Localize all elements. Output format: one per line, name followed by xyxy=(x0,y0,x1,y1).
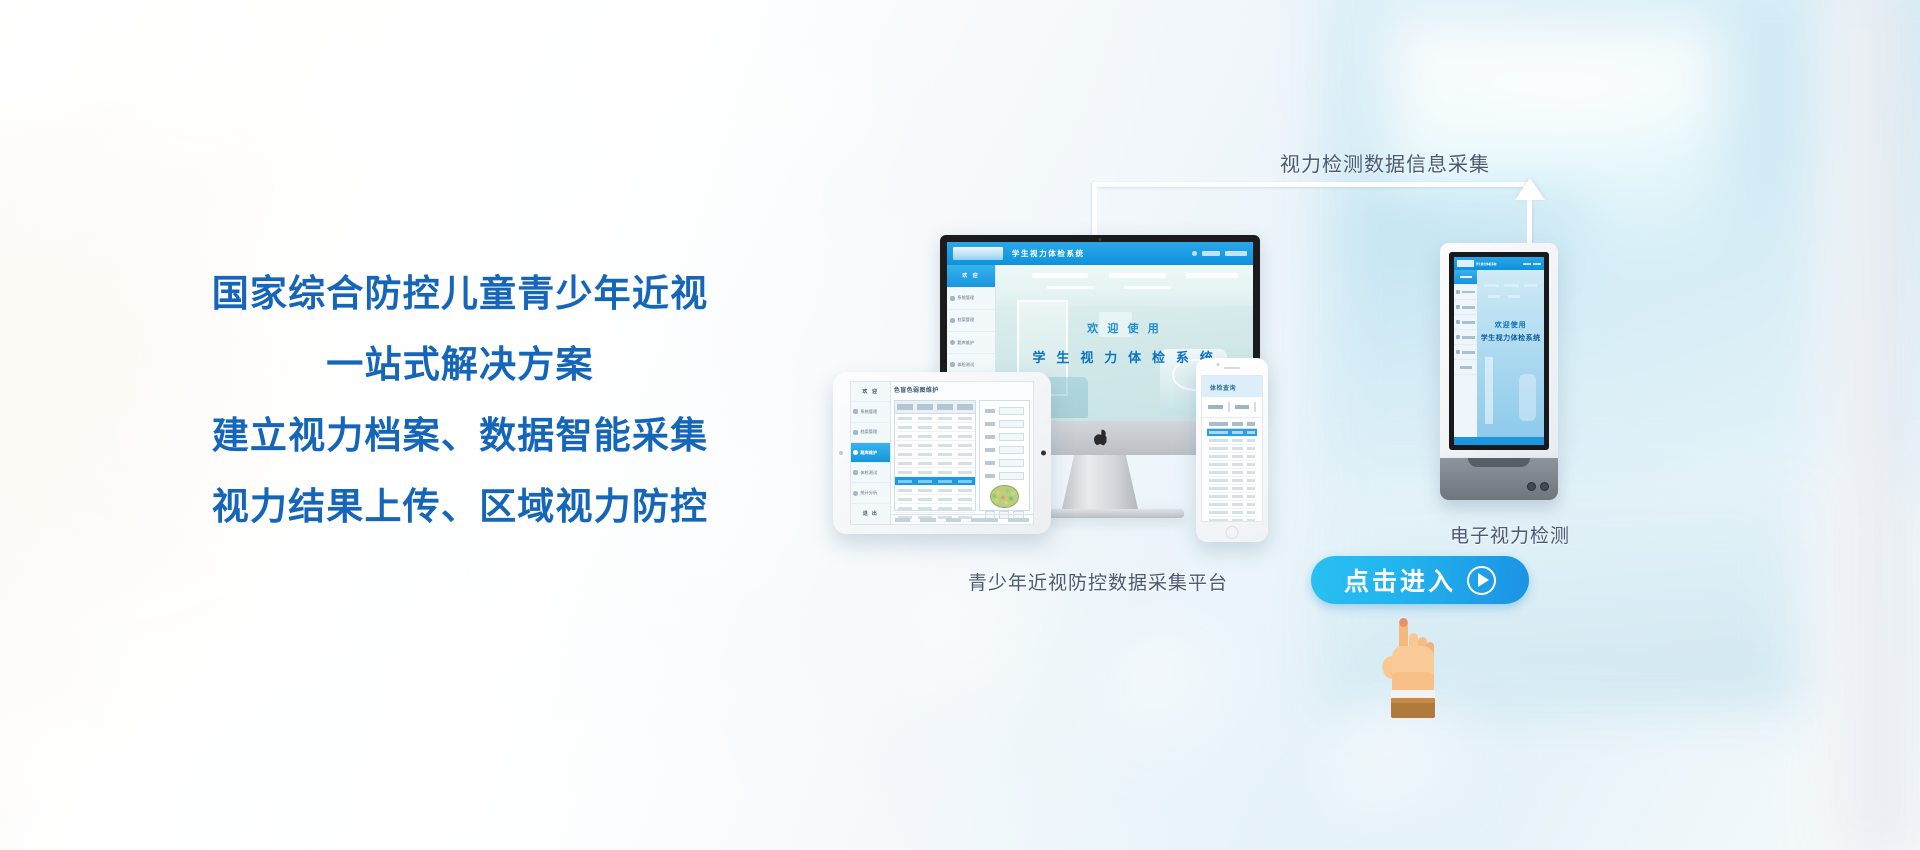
kiosk-bezel: 学生视力体检系统 xyxy=(1449,252,1549,450)
home-button[interactable] xyxy=(1226,526,1239,539)
table-row-selected[interactable] xyxy=(1207,429,1257,437)
table-row[interactable] xyxy=(1207,493,1257,501)
kiosk-app-title: 学生视力体检系统 xyxy=(1476,262,1497,266)
vision-screening-kiosk: 学生视力体检系统 xyxy=(1440,243,1558,500)
kiosk-app-footer xyxy=(1454,437,1544,445)
table-row[interactable] xyxy=(1207,501,1257,509)
field-input[interactable] xyxy=(999,407,1024,415)
table-row[interactable] xyxy=(1207,469,1257,477)
filter-select-class[interactable] xyxy=(1254,402,1256,412)
clinic-room-illustration xyxy=(1477,270,1544,437)
table-row[interactable] xyxy=(895,495,975,504)
table-row[interactable] xyxy=(895,432,975,441)
sidebar-item-statistics[interactable]: 统计分析 xyxy=(851,483,890,503)
toolbar-button[interactable] xyxy=(1008,518,1029,522)
filter-label-class xyxy=(1235,405,1250,409)
toolbar-button[interactable] xyxy=(895,518,910,522)
pointing-hand-icon xyxy=(1378,616,1440,721)
desktop-app-title: 学生视力体检系统 xyxy=(1012,248,1085,259)
sidebar-item-label: 体检测试 xyxy=(860,470,877,476)
kiosk-body: 学生视力体检系统 xyxy=(1440,243,1558,458)
kiosk-sensor-lenses xyxy=(1527,482,1549,491)
enter-button[interactable]: 点击进入 xyxy=(1311,556,1529,604)
eye-chart-icon xyxy=(1456,335,1460,339)
field-label xyxy=(985,435,995,439)
flow-label: 视力检测数据信息采集 xyxy=(1280,148,1490,177)
front-camera-icon xyxy=(1217,363,1220,366)
kiosk-main-area: 欢迎使用 学生视力体检系统 xyxy=(1477,270,1544,437)
headline-line-3: 建立视力档案、数据智能采集 xyxy=(150,400,770,471)
sidebar-item-label: 档案管理 xyxy=(860,429,877,435)
welcome-line-1: 欢 迎 使 用 xyxy=(1087,320,1162,336)
sidebar-item-label: 体检测试 xyxy=(957,362,974,368)
table-row[interactable] xyxy=(1207,509,1257,517)
table-row[interactable] xyxy=(895,414,975,423)
kiosk-welcome-panel: 欢迎使用 学生视力体检系统 xyxy=(1477,320,1544,343)
headline-block: 国家综合防控儿童青少年近视 一站式解决方案 建立视力档案、数据智能采集 视力结果… xyxy=(150,258,770,542)
sidebar-item-welcome[interactable]: 欢 迎 xyxy=(851,382,890,402)
color-plate-detail-panel[interactable] xyxy=(979,400,1031,511)
field-input[interactable] xyxy=(999,433,1024,441)
headline-line-2: 一站式解决方案 xyxy=(150,329,770,400)
table-row-selected[interactable] xyxy=(895,477,975,486)
folder-icon xyxy=(1456,305,1460,309)
kiosk-app-screen[interactable]: 学生视力体检系统 xyxy=(1454,257,1544,445)
kiosk-app-header: 学生视力体检系统 xyxy=(1454,257,1544,270)
sidebar-item-statistics[interactable] xyxy=(1454,345,1477,360)
field-label xyxy=(985,474,995,478)
clock-icon xyxy=(853,491,858,496)
table-row[interactable] xyxy=(1207,485,1257,493)
filter-select-grade[interactable] xyxy=(1228,402,1230,412)
sidebar-item-welcome[interactable] xyxy=(1454,270,1477,285)
sidebar-item-system[interactable]: 系统管理 xyxy=(851,402,890,422)
sidebar-item-system[interactable]: 系统管理 xyxy=(947,288,995,310)
clock-icon xyxy=(1456,350,1460,354)
toolbar-button[interactable] xyxy=(971,518,998,522)
sidebar-item-label: 题库维护 xyxy=(957,340,974,346)
arrow-right-circle-icon xyxy=(1467,566,1496,595)
folder-icon xyxy=(950,318,955,323)
eye-chart-icon xyxy=(950,362,955,367)
color-plate-table[interactable] xyxy=(894,400,976,511)
tablet-toolbar[interactable] xyxy=(891,514,1033,524)
earpiece-speaker xyxy=(1224,367,1240,369)
banner-stage: 国家综合防控儿童青少年近视 一站式解决方案 建立视力档案、数据智能采集 视力结果… xyxy=(0,0,1920,850)
imac-stand-neck xyxy=(1062,455,1138,509)
welcome-line-2: 学生视力体检系统 xyxy=(1480,334,1541,343)
kiosk-header-actions[interactable] xyxy=(1523,263,1541,265)
ishihara-plate-icon xyxy=(990,485,1019,508)
welcome-line-2: 学 生 视 力 体 检 系 统 xyxy=(1033,347,1217,366)
webcam-icon xyxy=(1099,238,1102,241)
folder-icon xyxy=(853,430,858,435)
field-label xyxy=(985,448,995,452)
sidebar-item-label: 题库维护 xyxy=(860,450,877,456)
iphone-device: 体检查询 xyxy=(1196,358,1268,542)
tablet-page-title: 色盲色弱图维护 xyxy=(891,382,1033,398)
sidebar-item-question-bank[interactable]: 题库维护 xyxy=(947,332,995,354)
table-header-row xyxy=(895,401,975,414)
enter-button-label: 点击进入 xyxy=(1344,562,1456,598)
table-row[interactable] xyxy=(1207,461,1257,469)
sidebar-item-exam[interactable]: 体检测试 xyxy=(851,463,890,483)
users-icon xyxy=(853,409,858,414)
table-row[interactable] xyxy=(895,486,975,495)
sidebar-item-archive[interactable]: 档案管理 xyxy=(851,423,890,443)
sidebar-item-label: 系统管理 xyxy=(957,295,974,301)
home-button[interactable] xyxy=(1041,451,1046,456)
sidebar-item-archive[interactable]: 档案管理 xyxy=(947,310,995,332)
field-label xyxy=(985,409,995,413)
field-label xyxy=(985,461,995,465)
field-input[interactable] xyxy=(999,459,1024,467)
table-row[interactable] xyxy=(1207,437,1257,445)
welcome-line-1: 欢迎使用 xyxy=(1480,320,1541,330)
target-icon xyxy=(950,340,955,345)
users-icon xyxy=(1456,290,1460,294)
table-row[interactable] xyxy=(895,468,975,477)
table-header-row xyxy=(1207,422,1257,429)
kiosk-sidebar[interactable] xyxy=(1454,270,1477,437)
caption-platform: 青少年近视防控数据采集平台 xyxy=(968,568,1228,595)
sidebar-item-exit[interactable] xyxy=(1454,360,1477,375)
table-row[interactable] xyxy=(895,441,975,450)
table-row[interactable] xyxy=(895,459,975,468)
arrow-up-icon xyxy=(1515,178,1545,200)
sidebar-item-label: 退 出 xyxy=(863,510,879,517)
sidebar-item-system[interactable] xyxy=(1454,285,1477,300)
eye-chart-icon xyxy=(853,470,858,475)
target-icon xyxy=(1456,320,1460,324)
field-input[interactable] xyxy=(999,420,1024,428)
table-row[interactable] xyxy=(1207,445,1257,453)
sidebar-item-welcome[interactable]: 欢 迎 xyxy=(947,265,995,287)
app-logo-icon xyxy=(1457,260,1474,267)
caption-kiosk: 电子视力检测 xyxy=(1450,521,1570,548)
ipad-tablet: 欢 迎 系统管理 档案管理 题库维护 xyxy=(833,372,1051,534)
field-label xyxy=(985,422,995,426)
sidebar-item-exam[interactable] xyxy=(1454,330,1477,345)
headline-line-4: 视力结果上传、区域视力防控 xyxy=(150,471,770,542)
sidebar-item-label: 欢 迎 xyxy=(962,272,979,279)
toolbar-button[interactable] xyxy=(920,518,935,522)
users-icon xyxy=(950,296,955,301)
table-row[interactable] xyxy=(895,423,975,432)
table-row[interactable] xyxy=(895,450,975,459)
sidebar-item-label: 档案管理 xyxy=(957,317,974,323)
field-input[interactable] xyxy=(999,472,1024,480)
sidebar-item-exit[interactable]: 退 出 xyxy=(851,504,890,524)
phone-result-table[interactable] xyxy=(1202,418,1262,521)
table-row[interactable] xyxy=(1207,477,1257,485)
phone-filter-bar[interactable] xyxy=(1202,397,1262,418)
desktop-app-header-actions[interactable] xyxy=(1192,251,1247,256)
field-input[interactable] xyxy=(999,446,1024,454)
filter-label-grade xyxy=(1208,405,1223,409)
sidebar-item-archive[interactable] xyxy=(1454,300,1477,315)
tablet-app-screen[interactable]: 欢 迎 系统管理 档案管理 题库维护 xyxy=(850,381,1034,525)
phone-app-screen[interactable]: 体检查询 xyxy=(1201,375,1263,522)
headline-line-1: 国家综合防控儿童青少年近视 xyxy=(150,258,770,329)
front-camera-icon xyxy=(839,451,843,455)
table-row[interactable] xyxy=(1207,453,1257,461)
tablet-sidebar[interactable]: 欢 迎 系统管理 档案管理 题库维护 xyxy=(851,382,891,524)
sidebar-item-label: 系统管理 xyxy=(860,409,877,415)
sidebar-item-label: 统计分析 xyxy=(860,490,877,496)
sidebar-item-label: 欢 迎 xyxy=(862,388,878,395)
target-icon xyxy=(853,450,858,455)
table-row[interactable] xyxy=(895,504,975,513)
sidebar-item-question-bank[interactable] xyxy=(1454,315,1477,330)
app-logo-icon xyxy=(953,247,1003,260)
sidebar-item-question-bank[interactable]: 题库维护 xyxy=(851,443,890,463)
toolbar-button[interactable] xyxy=(946,518,961,522)
flow-connector-bar xyxy=(1092,182,1532,187)
desktop-app-header: 学生视力体检系统 xyxy=(947,242,1253,265)
tablet-main-area: 色盲色弱图维护 xyxy=(891,382,1033,524)
table-row[interactable] xyxy=(1207,517,1257,521)
phone-page-title: 体检查询 xyxy=(1202,376,1262,397)
apple-logo-icon xyxy=(1094,431,1107,446)
kiosk-base xyxy=(1440,458,1558,500)
